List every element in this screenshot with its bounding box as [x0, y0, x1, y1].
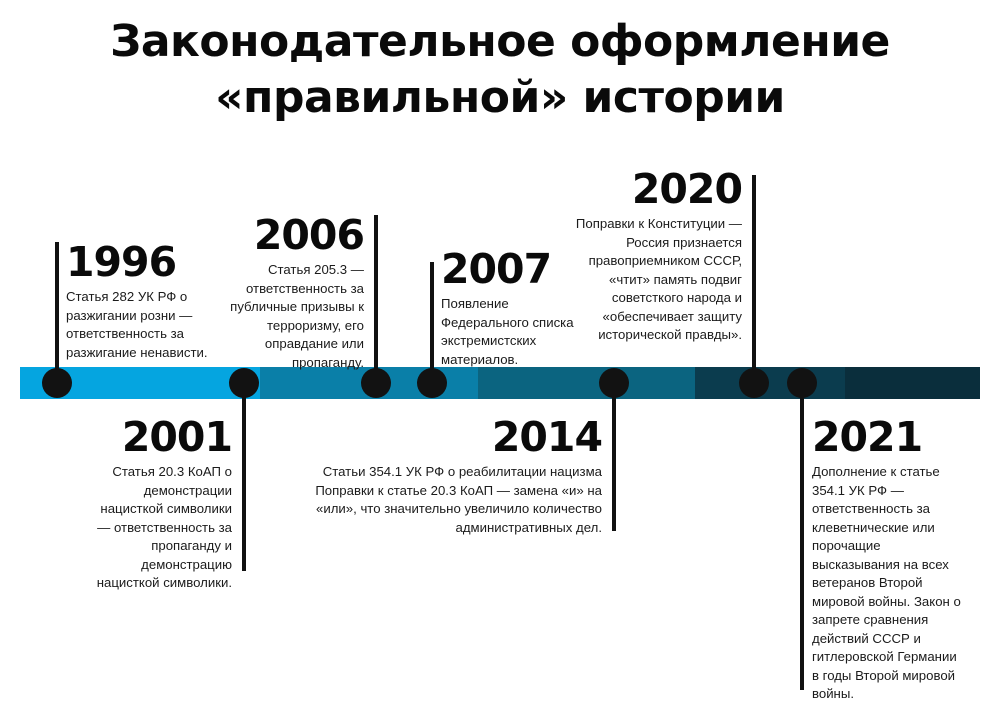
marker-dot-1996[interactable]	[42, 368, 72, 398]
entry-text-2021: Дополнение к статье 354.1 УК РФ — ответс…	[812, 463, 962, 704]
timeline-bar	[20, 367, 980, 399]
title-line-2: «правильной» истории	[0, 70, 1000, 126]
entry-year-2014: 2014	[296, 415, 602, 459]
entry-year-2020: 2020	[568, 167, 742, 211]
entry-text-1996: Статья 282 УК РФ о разжигании розни — от…	[66, 288, 226, 362]
timeline-entry-2001: 2001 Статья 20.3 КоАП о демонстрации нац…	[86, 415, 232, 593]
marker-dot-2007[interactable]	[417, 368, 447, 398]
timeline-infographic: Законодательное оформление «правильной» …	[0, 0, 1000, 704]
marker-stem-2020	[752, 175, 756, 383]
timeline-entry-2021: 2021 Дополнение к статье 354.1 УК РФ — о…	[812, 415, 962, 704]
timeline-entry-2020: 2020 Поправки к Конституции — Россия при…	[568, 167, 742, 345]
timeline-segment-3	[478, 367, 696, 399]
marker-stem-2014	[612, 383, 616, 531]
timeline-segment-4	[695, 367, 845, 399]
marker-stem-2006	[374, 215, 378, 383]
marker-dot-2006[interactable]	[361, 368, 391, 398]
marker-dot-2014[interactable]	[599, 368, 629, 398]
marker-dot-2001[interactable]	[229, 368, 259, 398]
title-line-1: Законодательное оформление	[0, 14, 1000, 70]
entry-year-1996: 1996	[66, 240, 226, 284]
entry-text-2014: Статьи 354.1 УК РФ о реабилитации нацизм…	[296, 463, 602, 537]
entry-text-2001: Статья 20.3 КоАП о демонстрации нацистко…	[86, 463, 232, 593]
marker-stem-2007	[430, 262, 434, 383]
timeline-segment-5	[845, 367, 980, 399]
entry-text-2020: Поправки к Конституции — Россия признает…	[568, 215, 742, 345]
entry-year-2021: 2021	[812, 415, 962, 459]
marker-stem-2021	[800, 383, 804, 690]
marker-dot-2021[interactable]	[787, 368, 817, 398]
marker-stem-1996	[55, 242, 59, 383]
entry-year-2001: 2001	[86, 415, 232, 459]
entry-text-2006: Статья 205.3 — ответственность за публич…	[222, 261, 364, 372]
page-title: Законодательное оформление «правильной» …	[0, 14, 1000, 126]
entry-year-2006: 2006	[222, 213, 364, 257]
marker-dot-2020[interactable]	[739, 368, 769, 398]
marker-stem-2001	[242, 383, 246, 571]
timeline-entry-2006: 2006 Статья 205.3 — ответственность за п…	[222, 213, 364, 372]
timeline-entry-1996: 1996 Статья 282 УК РФ о разжигании розни…	[66, 240, 226, 362]
timeline-entry-2014: 2014 Статьи 354.1 УК РФ о реабилитации н…	[296, 415, 602, 537]
